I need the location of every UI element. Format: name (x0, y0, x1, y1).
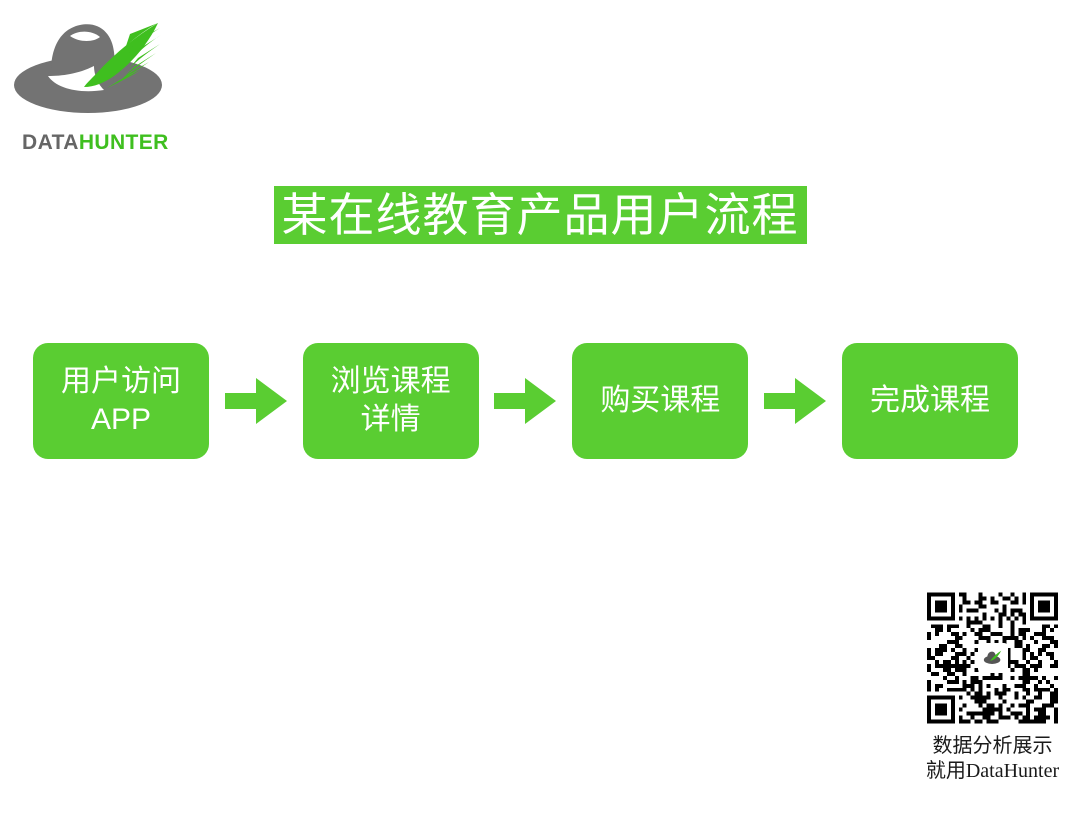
flow-diagram: 用户访问 APP 浏览课程 详情 购买课程 完成课程 (33, 343, 1018, 459)
page-title: 某在线教育产品用户流程 (0, 186, 1080, 244)
qr-caption: 数据分析展示 就用DataHunter (905, 734, 1080, 784)
flow-step-label-line1: 浏览课程 (331, 363, 451, 401)
flow-step-visit-app[interactable]: 用户访问 APP (33, 343, 209, 459)
flow-step-label-line2: APP (91, 401, 151, 439)
flow-arrow-1-right-block-arrow-icon (225, 374, 287, 428)
qr-caption-line1: 数据分析展示 (905, 734, 1080, 759)
fedora-hat-with-feather-icon (8, 8, 178, 123)
flow-step-complete-course[interactable]: 完成课程 (842, 343, 1018, 459)
flow-step-label-line2: 详情 (361, 401, 421, 439)
flow-step-label-line1: 购买课程 (600, 382, 720, 420)
qr-code-icon[interactable] (927, 592, 1058, 724)
flow-arrow-2-right-block-arrow-icon (494, 374, 556, 428)
datahunter-mini-logo-icon (978, 643, 1008, 673)
flow-step-label-line1: 完成课程 (870, 382, 990, 420)
brand-wordmark-data: DATA (22, 131, 79, 154)
flow-arrow-3-right-block-arrow-icon (764, 374, 826, 428)
qr-caption-line2: 就用DataHunter (905, 759, 1080, 784)
flow-step-purchase-course[interactable]: 购买课程 (572, 343, 748, 459)
flow-step-label-line1: 用户访问 (61, 363, 181, 401)
brand-wordmark-hunter: HUNTER (79, 131, 169, 154)
brand-wordmark: DATAHUNTER (22, 132, 169, 153)
page-title-text: 某在线教育产品用户流程 (274, 186, 807, 244)
flow-step-browse-course-detail[interactable]: 浏览课程 详情 (303, 343, 479, 459)
brand-logo: DATAHUNTER (8, 8, 208, 158)
qr-block: 数据分析展示 就用DataHunter (905, 592, 1080, 784)
